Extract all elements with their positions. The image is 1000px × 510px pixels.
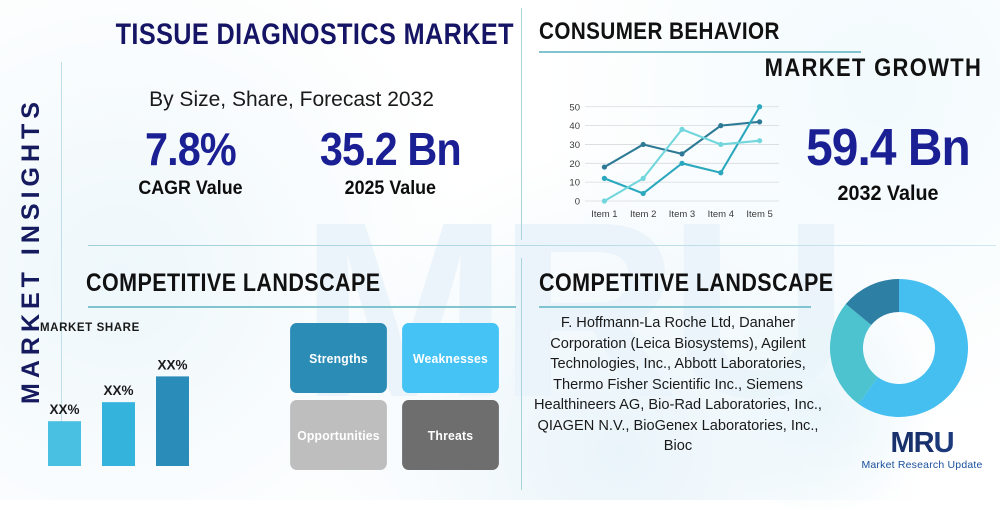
svg-text:40: 40 — [569, 121, 580, 132]
kpi-2025: 35.2 Bn 2025 Value — [312, 122, 469, 200]
svg-text:10: 10 — [569, 178, 580, 189]
svg-text:Item 2: Item 2 — [630, 209, 656, 220]
market-growth-heading: MARKET GROWTH — [764, 54, 982, 83]
kpi-cagr: 7.8% CAGR Value — [135, 122, 246, 200]
svg-text:Item 5: Item 5 — [746, 209, 772, 220]
consumer-behavior-title: CONSUMER BEHAVIOR — [539, 18, 780, 46]
svg-text:Item 4: Item 4 — [708, 209, 734, 220]
svg-text:30: 30 — [569, 140, 580, 151]
consumer-behavior-rule — [539, 51, 861, 53]
consumer-behavior-panel: CONSUMER BEHAVIOR MARKET GROWTH 59.4 Bn … — [521, 0, 1000, 245]
competitive-landscape-left-panel: COMPETITIVE LANDSCAPE — [62, 245, 521, 500]
svg-text:Item 3: Item 3 — [669, 209, 695, 220]
page-subtitle: By Size, Share, Forecast 2032 — [62, 88, 521, 112]
company-list: F. Hoffmann-La Roche Ltd, Danaher Corpor… — [533, 313, 823, 457]
competitive-left-rule — [88, 306, 516, 308]
svg-text:20: 20 — [569, 159, 580, 170]
infographic-page: MRU MARKET INSIGHTS TISSUE DIAGNOSTICS M… — [0, 0, 1000, 500]
line-chart-x-ticks: Item 1Item 2Item 3Item 4Item 5 — [591, 209, 773, 220]
kpi-row: 7.8% CAGR Value 35.2 Bn 2025 Value — [102, 122, 502, 200]
line-chart-svg: 01020304050 Item 1Item 2Item 3Item 4Item… — [555, 95, 785, 225]
svg-text:Item 1: Item 1 — [591, 209, 617, 220]
kpi-2025-value: 35.2 Bn — [320, 122, 461, 176]
vertical-divider-top — [521, 8, 522, 240]
market-growth-label: 2032 Value — [783, 182, 994, 206]
kpi-2025-label: 2025 Value — [317, 178, 464, 200]
line-chart-series — [602, 104, 762, 203]
market-growth-value: 59.4 Bn — [785, 118, 991, 178]
line-chart-y-ticks: 01020304050 — [569, 102, 580, 207]
competitive-left-title: COMPETITIVE LANDSCAPE — [86, 269, 381, 298]
rail-label: MARKET INSIGHTS — [17, 97, 46, 404]
horizontal-divider — [88, 245, 996, 246]
competitive-landscape-right-panel: COMPETITIVE LANDSCAPE F. Hoffmann-La Roc… — [521, 245, 1000, 500]
page-title: TISSUE DIAGNOSTICS MARKET — [116, 18, 469, 52]
headline-panel: TISSUE DIAGNOSTICS MARKET By Size, Share… — [62, 0, 521, 245]
svg-text:0: 0 — [575, 197, 580, 208]
kpi-cagr-label: CAGR Value — [138, 178, 242, 200]
kpi-cagr-value: 7.8% — [141, 122, 241, 176]
vertical-divider-bottom — [521, 258, 522, 490]
competitive-right-title: COMPETITIVE LANDSCAPE — [539, 269, 834, 298]
consumer-behavior-line-chart: 01020304050 Item 1Item 2Item 3Item 4Item… — [555, 95, 785, 225]
market-insights-rail: MARKET INSIGHTS — [0, 0, 62, 500]
competitive-right-rule — [539, 306, 811, 308]
svg-text:50: 50 — [569, 102, 580, 113]
